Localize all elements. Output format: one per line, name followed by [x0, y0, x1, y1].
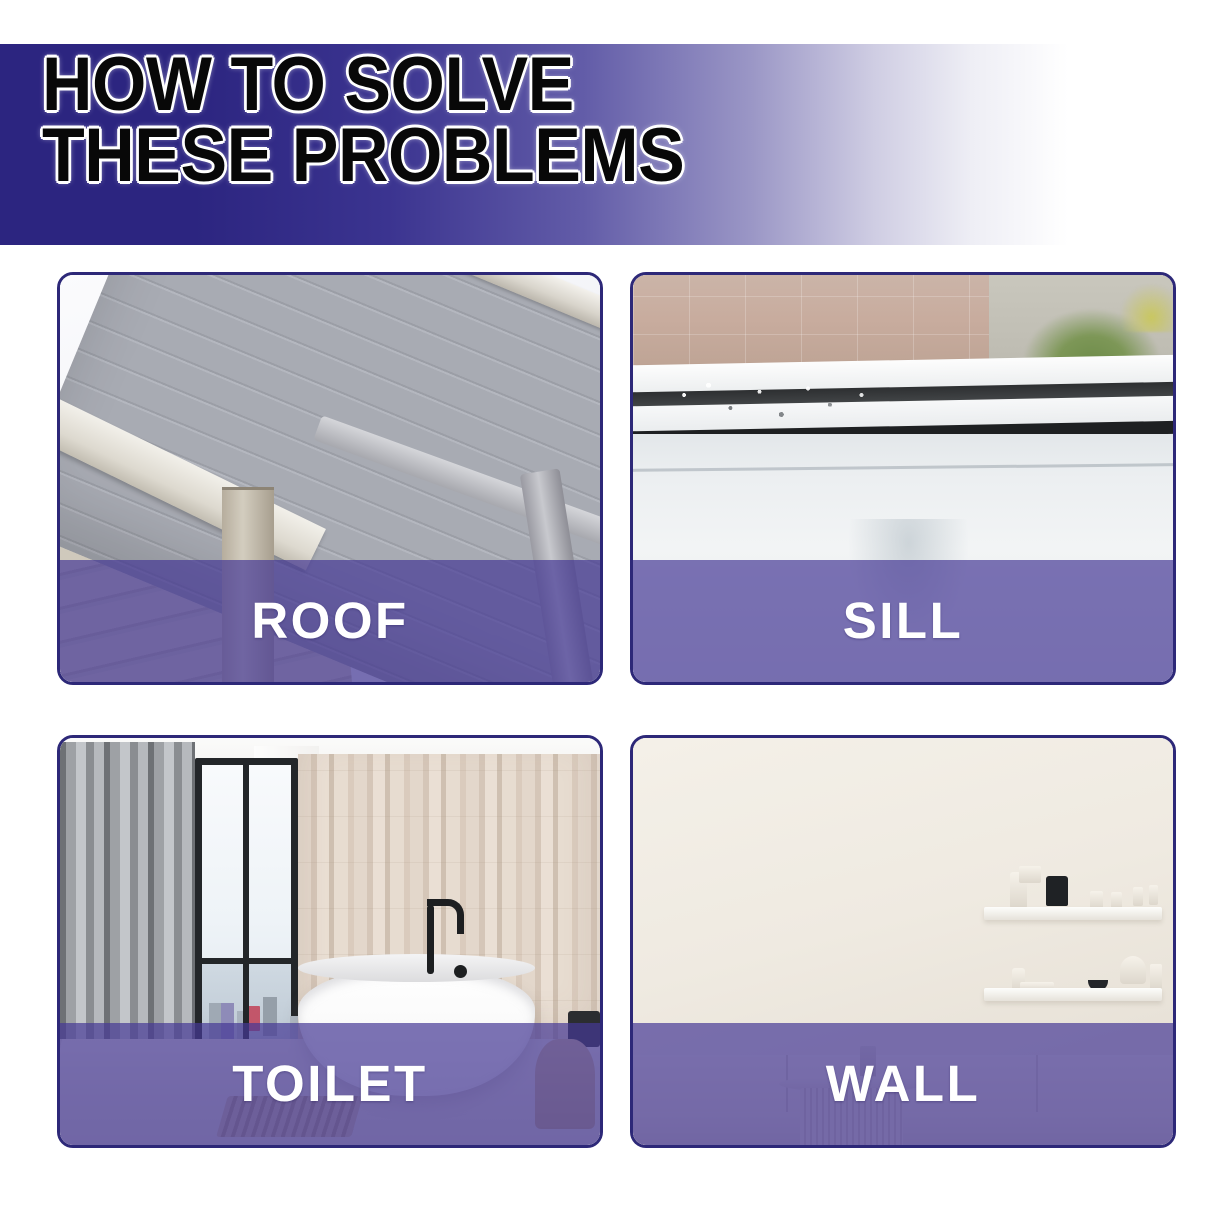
problem-card-sill[interactable]: SILL: [630, 272, 1176, 685]
shelf-black-vase: [1046, 876, 1068, 906]
wall-label-overlay: WALL: [633, 1023, 1173, 1145]
window-mullion-horizontal: [202, 958, 291, 964]
window-mullion-vertical: [243, 765, 249, 1048]
floating-shelf-lower: [984, 988, 1162, 1001]
yellow-flowers: [1119, 283, 1173, 332]
card-label-roof: ROOF: [251, 595, 408, 646]
header-banner: HOW TO SOLVE THESE PROBLEMS: [0, 44, 1214, 245]
sill-label-overlay: SILL: [633, 560, 1173, 682]
toilet-label-overlay: TOILET: [60, 1023, 600, 1145]
black-faucet: [427, 905, 434, 974]
card-label-toilet: TOILET: [232, 1058, 427, 1109]
problem-cards-grid: ROOF SILL: [57, 272, 1176, 1148]
shelf-cup-1: [1090, 891, 1103, 909]
shelf-bowl: [1019, 866, 1041, 883]
problem-card-wall[interactable]: WALL: [630, 735, 1176, 1148]
bathtub-rim: [298, 954, 536, 982]
condensation-droplets: [655, 369, 898, 434]
roof-label-overlay: ROOF: [60, 560, 600, 682]
page-title: HOW TO SOLVE THESE PROBLEMS: [42, 50, 1054, 191]
card-label-wall: WALL: [826, 1058, 980, 1109]
card-label-sill: SILL: [843, 595, 964, 646]
floating-shelf-upper: [984, 907, 1162, 920]
shelf-cup-4: [1149, 885, 1158, 905]
shelf-cup-3: [1133, 887, 1143, 906]
lower-shelf-vase: [1150, 964, 1162, 990]
bathroom-window: [195, 758, 298, 1055]
lower-shelf-lamp: [1120, 956, 1146, 984]
problem-card-roof[interactable]: ROOF: [57, 272, 603, 685]
problem-card-toilet[interactable]: TOILET: [57, 735, 603, 1148]
